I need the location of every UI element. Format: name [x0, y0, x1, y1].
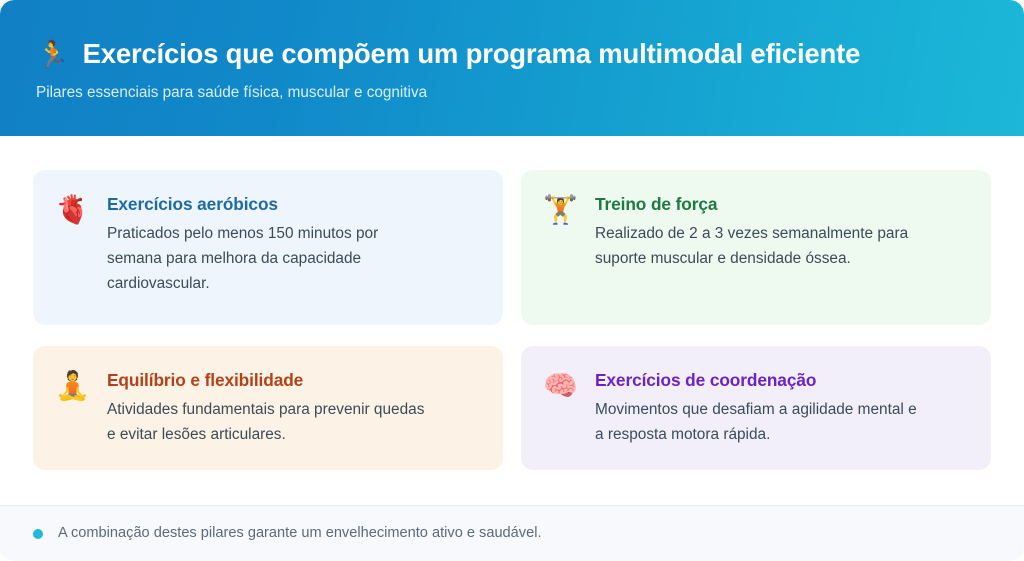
card-coordination: 🧠 Exercícios de coordenação Movimentos q…: [521, 346, 991, 470]
card-body-balance: Equilíbrio e flexibilidade Atividades fu…: [107, 370, 481, 447]
weightlifter-icon: 🏋️: [543, 194, 577, 224]
card-strength: 🏋️ Treino de força Realizado de 2 a 3 ve…: [521, 170, 991, 325]
card-title-strength: Treino de força: [595, 194, 969, 216]
card-text-aerobic: Praticados pelo menos 150 minutos por se…: [107, 221, 437, 296]
card-title-balance: Equilíbrio e flexibilidade: [107, 370, 481, 392]
card-text-strength: Realizado de 2 a 3 vezes semanalmente pa…: [595, 221, 935, 271]
card-title-coordination: Exercícios de coordenação: [595, 370, 969, 392]
page-title: Exercícios que compõem um programa multi…: [83, 39, 861, 69]
card-aerobic: 🫀 Exercícios aeróbicos Praticados pelo m…: [33, 170, 503, 325]
card-balance: 🧘 Equilíbrio e flexibilidade Atividades …: [33, 346, 503, 470]
footer-note: A combinação destes pilares garante um e…: [58, 523, 542, 543]
card-body-strength: Treino de força Realizado de 2 a 3 vezes…: [595, 194, 969, 271]
card-body-aerobic: Exercícios aeróbicos Praticados pelo men…: [107, 194, 481, 296]
page-header: 🏃 Exercícios que compõem um programa mul…: [0, 0, 1024, 136]
pillar-card-grid: 🫀 Exercícios aeróbicos Praticados pelo m…: [33, 170, 991, 470]
running-person-icon: 🏃: [36, 42, 70, 69]
brain-icon: 🧠: [543, 370, 577, 400]
card-body-coordination: Exercícios de coordenação Movimentos que…: [595, 370, 969, 447]
anatomical-heart-icon: 🫀: [55, 194, 89, 224]
infographic-page: 🏃 Exercícios que compõem um programa mul…: [0, 0, 1024, 561]
card-title-aerobic: Exercícios aeróbicos: [107, 194, 481, 216]
header-title-row: 🏃 Exercícios que compõem um programa mul…: [36, 34, 860, 74]
bullet-dot-icon: [33, 529, 43, 539]
card-text-balance: Atividades fundamentais para prevenir qu…: [107, 397, 437, 447]
page-subtitle: Pilares essenciais para saúde física, mu…: [36, 83, 427, 104]
page-footer: A combinação destes pilares garante um e…: [0, 505, 1024, 561]
card-text-coordination: Movimentos que desafiam a agilidade ment…: [595, 397, 925, 447]
lotus-position-icon: 🧘: [55, 370, 89, 400]
